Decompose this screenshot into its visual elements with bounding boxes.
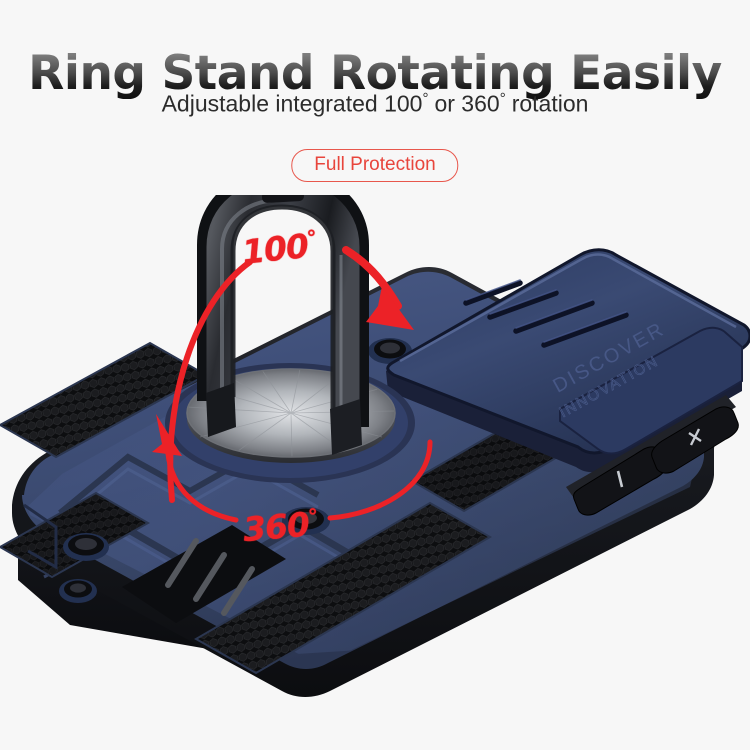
subtitle-part-2: or 360 (434, 91, 499, 117)
screw-hole-left-upper (63, 533, 109, 561)
screw-hole-left-lower (59, 579, 97, 603)
annotation-label-360: 360° (241, 504, 319, 549)
product-marketing-image: Ring Stand Rotating Easily Adjustable in… (0, 0, 750, 750)
annotation-360-degree: ° (307, 504, 318, 529)
subtitle-part-3: rotation (512, 91, 589, 117)
annotation-360-value: 360 (241, 505, 310, 550)
status-badge: Full Protection (291, 149, 458, 182)
annotation-label-100: 100° (240, 225, 319, 272)
page-subtitle: Adjustable integrated 100°or 360°rotatio… (0, 90, 750, 118)
phone-case-illustration: DISCOVER INNOVATION (0, 195, 750, 750)
degree-symbol-100: ° (422, 90, 434, 107)
annotation-100-value: 100 (240, 226, 310, 272)
product-image: DISCOVER INNOVATION (0, 195, 750, 750)
degree-symbol-360: ° (500, 90, 512, 107)
subtitle-part-1: Adjustable integrated 100 (162, 91, 423, 117)
